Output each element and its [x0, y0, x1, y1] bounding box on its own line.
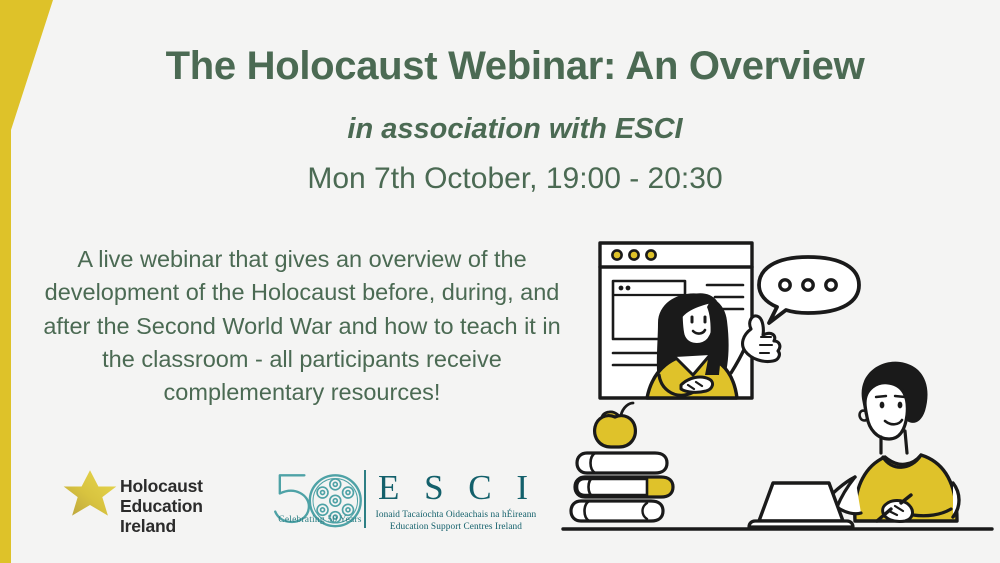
page-title: The Holocaust Webinar: An Overview: [60, 44, 970, 89]
event-description: A live webinar that gives an overview of…: [42, 243, 562, 410]
esci-wordmark: E S C I: [372, 468, 542, 507]
apple-icon: [595, 403, 636, 447]
holocaust-education-ireland-wordmark: Holocaust Education Ireland: [120, 477, 203, 537]
webinar-illustration: [555, 225, 1000, 545]
student-man-illustration: [823, 362, 959, 522]
book-stack-icon: [571, 453, 673, 521]
esci-divider-rule: [364, 470, 366, 528]
esci-subtitle-english: Education Support Centres Ireland: [368, 522, 544, 532]
esci-subtitle-irish: Ionaid Tacaíochta Oideachais na hÉireann: [368, 510, 544, 520]
hei-line-3: Ireland: [120, 517, 203, 537]
webinar-promo-poster: The Holocaust Webinar: An Overview in as…: [0, 0, 1000, 563]
speech-bubble-icon: [759, 257, 859, 323]
association-subtitle: in association with ESCI: [60, 112, 970, 147]
event-datetime: Mon 7th October, 19:00 - 20:30: [60, 160, 970, 198]
hei-line-2: Education: [120, 497, 203, 517]
presenter-woman-illustration: [647, 293, 780, 398]
esci-anniversary-caption: Celebrating 50 Years: [268, 515, 372, 525]
hei-line-1: Holocaust: [120, 477, 203, 497]
esci-logo: Celebrating 50 Years E S C I Ionaid Taca…: [268, 466, 543, 544]
holocaust-education-ireland-logo: Holocaust Education Ireland: [62, 466, 242, 544]
star-of-david-icon: [62, 468, 118, 524]
